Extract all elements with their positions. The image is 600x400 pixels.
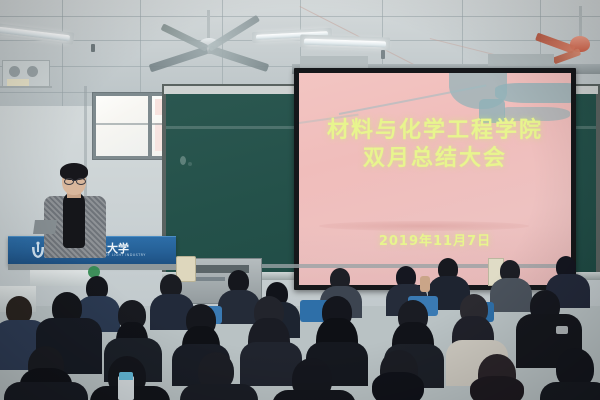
- screen-date: 2019年11月7日: [299, 230, 571, 249]
- projector-mount-plate: [300, 56, 368, 68]
- wall-mounted-device: [2, 60, 50, 88]
- ceiling-sensor-left: [91, 44, 95, 52]
- ceiling-panel-right: [488, 54, 554, 66]
- water-bottle-cap: [119, 372, 133, 380]
- jacket-logo: [556, 326, 568, 334]
- raised-hand: [420, 276, 430, 292]
- wall-trim: [0, 86, 52, 88]
- ceiling-sensor-right: [381, 50, 385, 59]
- classroom-photo-scene: 材料与化学工程学院 双月总结大会 2019年11月7日 郑州轻工业大学 ZHEN…: [0, 0, 600, 400]
- laptop-screen: [33, 220, 57, 234]
- projection-screen: 材料与化学工程学院 双月总结大会 2019年11月7日: [299, 73, 571, 285]
- podium-top: [30, 268, 90, 286]
- screen-title-line-1: 材料与化学工程学院: [299, 117, 571, 145]
- projection-screen-frame: 材料与化学工程学院 双月总结大会 2019年11月7日: [294, 68, 576, 290]
- screen-title-line-2: 双月总结大会: [299, 145, 571, 173]
